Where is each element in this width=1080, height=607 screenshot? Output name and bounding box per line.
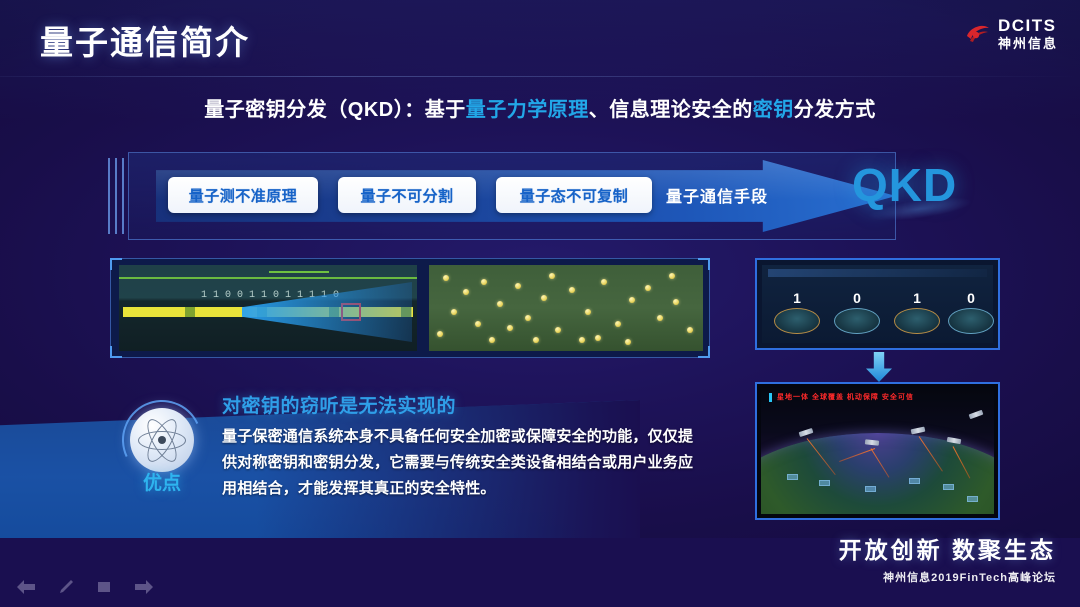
next-slide-icon[interactable] [134, 579, 154, 600]
photon-dot [569, 287, 575, 293]
ground-station-node [909, 478, 920, 484]
photon-dot [497, 301, 503, 307]
qubit-value: 1 [892, 291, 942, 305]
photon-dot [549, 273, 555, 279]
photon-dot [673, 299, 679, 305]
advantages-body-text: 量子保密通信系统本身不具备任何安全加密或保障安全的功能，仅仅提供对称密钥和密钥分… [222, 424, 704, 501]
photon-dot [541, 295, 547, 301]
photon-dot [595, 335, 601, 341]
qubit-oval-icon [774, 308, 820, 334]
subtitle-part-3: 分发方式 [794, 99, 876, 121]
photon-dot [625, 339, 631, 345]
photon-dot [687, 327, 693, 333]
qubit-indicator-2: 0 [832, 291, 882, 334]
magnified-photon-view [429, 265, 703, 351]
atom-nucleus [158, 436, 166, 444]
photon-dot [657, 315, 663, 321]
principle-pill-3[interactable]: 量子态不可复制 [496, 177, 652, 213]
advantages-heading: 对密钥的窃听是无法实现的 [222, 391, 456, 418]
logo-cn: 神州信息 [998, 37, 1058, 50]
band-tick-1 [108, 158, 110, 234]
advantages-icon-label: 优点 [122, 468, 202, 495]
photon-dot [645, 285, 651, 291]
principles-arrow-band: 量子测不准原理 量子不可分割 量子态不可复制 量子通信手段 [106, 152, 896, 240]
qubit-device-panel: 1 0 1 0 [755, 258, 1000, 350]
photon-dot [615, 321, 621, 327]
dcits-swoosh-icon [964, 20, 992, 48]
footer-event-name: 神州信息2019FinTech高峰论坛 [839, 569, 1056, 585]
photon-dot [481, 279, 487, 285]
qubit-indicator-4: 0 [946, 291, 996, 334]
prev-slide-icon[interactable] [16, 579, 36, 600]
ground-station-node [787, 474, 798, 480]
ground-station-node [943, 484, 954, 490]
pen-tool-icon[interactable] [58, 579, 74, 600]
photon-dot [555, 327, 561, 333]
subtitle-part-2: 、信息理论安全的 [589, 99, 753, 121]
qubit-oval-icon [894, 308, 940, 334]
fiber-trace-line [119, 277, 417, 279]
header-divider [0, 76, 1080, 77]
fiber-trace-step [269, 271, 329, 273]
map-title-accent [769, 393, 772, 402]
device-status-bar [768, 269, 987, 277]
photon-dot [533, 337, 539, 343]
band-arrow-label: 量子通信手段 [666, 177, 768, 213]
photon-dot [489, 337, 495, 343]
principle-pill-2[interactable]: 量子不可分割 [338, 177, 476, 213]
photon-dot [601, 279, 607, 285]
qubit-indicator-3: 1 [892, 291, 942, 334]
qubit-oval-icon [948, 308, 994, 334]
qubit-value: 0 [832, 291, 882, 305]
satellite-network-map-panel: 星地一体 全球覆盖 机动保障 安全可信 [755, 382, 1000, 520]
subtitle-part-1: 量子密钥分发（QKD）：基于 [204, 99, 465, 121]
photon-dot [437, 331, 443, 337]
slide-header: 量子通信简介 DCITS 神州信息 [0, 0, 1080, 78]
photon-dot [669, 273, 675, 279]
logo-en: DCITS [998, 17, 1058, 34]
photon-dot [443, 275, 449, 281]
map-title-text: 星地一体 全球覆盖 机动保障 安全可信 [769, 392, 914, 402]
footer-slogan: 开放创新 数聚生态 [839, 531, 1056, 565]
ground-station-node [819, 480, 830, 486]
photon-dot [475, 321, 481, 327]
device-screen: 1 0 1 0 [762, 265, 993, 343]
photon-dot [579, 337, 585, 343]
qubit-value: 1 [772, 291, 822, 305]
slide-subtitle: 量子密钥分发（QKD）：基于量子力学原理、信息理论安全的密钥分发方式 [0, 93, 1080, 122]
qubit-indicator-1: 1 [772, 291, 822, 334]
qkd-result-label: QKD [852, 158, 957, 212]
page-title: 量子通信简介 [40, 16, 250, 64]
band-tick-3 [122, 158, 124, 234]
stop-icon[interactable] [96, 579, 112, 600]
band-tick-2 [115, 158, 117, 234]
photon-dot [585, 309, 591, 315]
qubit-oval-icon [834, 308, 880, 334]
subtitle-highlight-2: 密钥 [753, 99, 794, 121]
atom-sphere [130, 408, 194, 472]
photon-dot [525, 315, 531, 321]
photon-dot [507, 325, 513, 331]
ground-station-node [865, 486, 876, 492]
ground-station-node [967, 496, 978, 502]
photon-dot [515, 283, 521, 289]
presentation-toolbar[interactable] [16, 579, 154, 600]
slide-footer: 开放创新 数聚生态 神州信息2019FinTech高峰论坛 [839, 531, 1056, 585]
photon-dot [451, 309, 457, 315]
subtitle-highlight-1: 量子力学原理 [466, 99, 589, 121]
map-title-label: 星地一体 全球覆盖 机动保障 安全可信 [777, 392, 914, 402]
map-image: 星地一体 全球覆盖 机动保障 安全可信 [761, 388, 994, 514]
qubit-value: 0 [946, 291, 996, 305]
photon-dot [629, 297, 635, 303]
logo-text-block: DCITS 神州信息 [998, 17, 1058, 50]
brand-logo: DCITS 神州信息 [964, 17, 1058, 50]
principle-pill-1[interactable]: 量子测不准原理 [168, 177, 318, 213]
photon-dot [463, 289, 469, 295]
